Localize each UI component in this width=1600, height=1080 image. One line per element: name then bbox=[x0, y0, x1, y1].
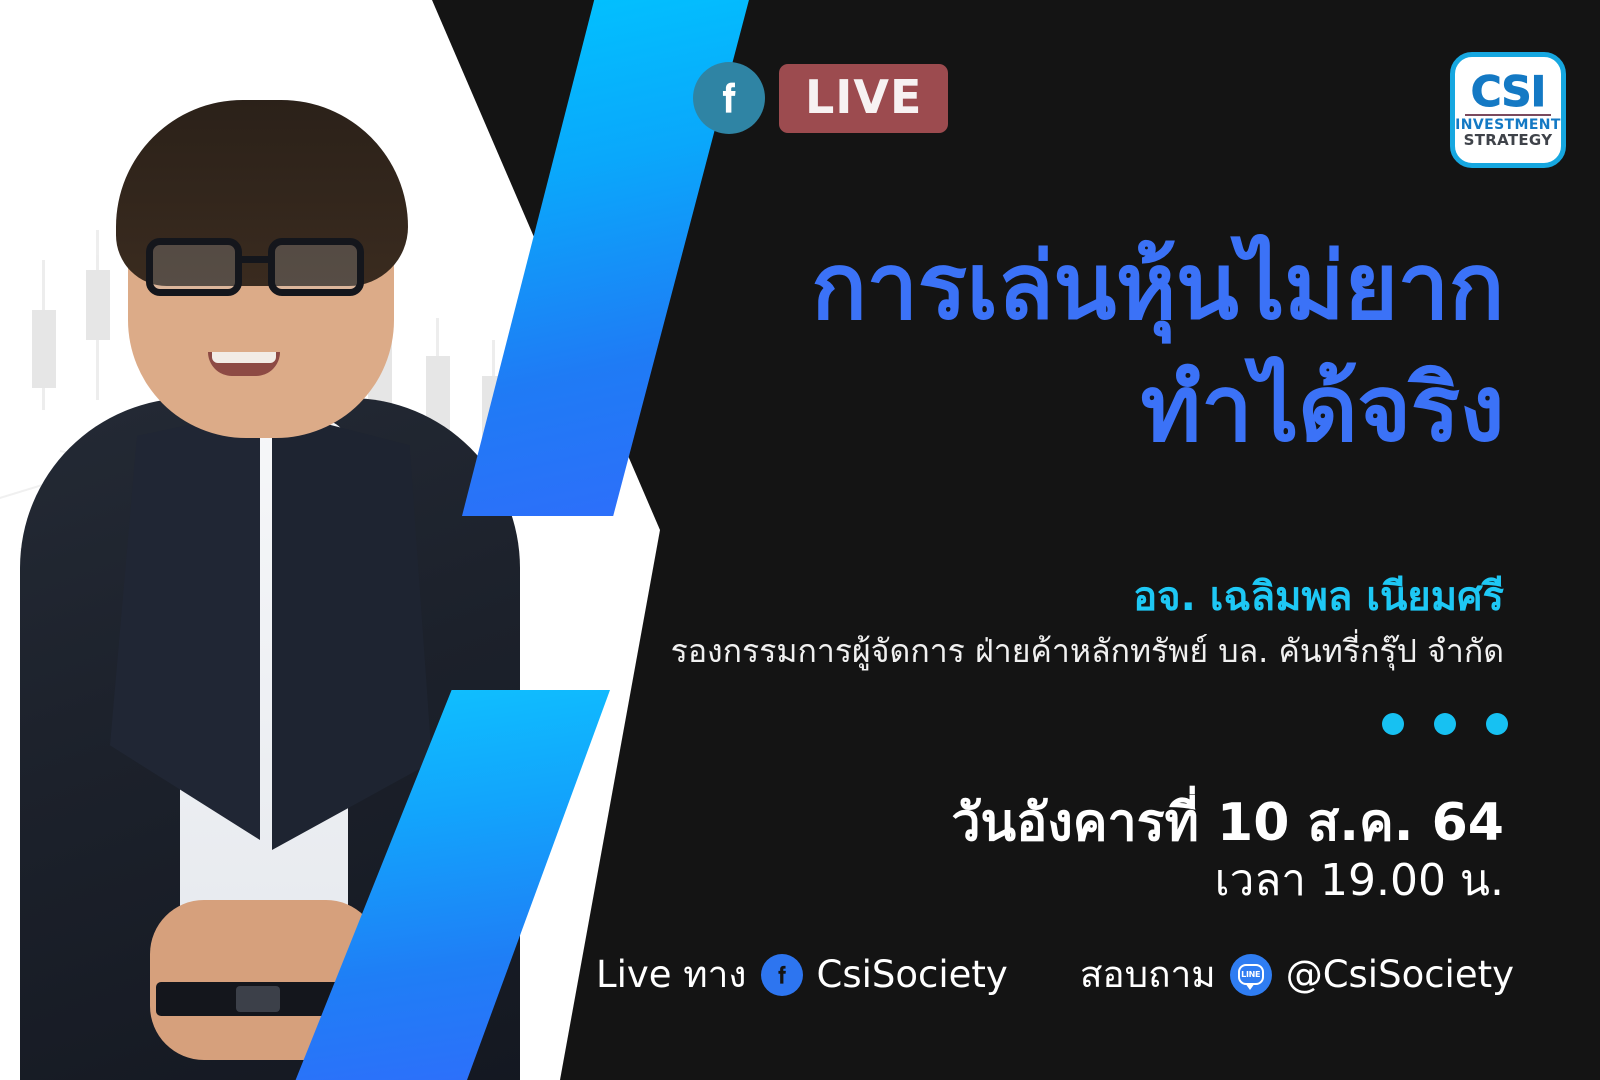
csi-logo-main: CSI bbox=[1471, 72, 1545, 111]
csi-logo: CSI INVESTMENT STRATEGY bbox=[1450, 52, 1566, 168]
csi-logo-divider bbox=[1465, 114, 1551, 116]
speaker-name: อจ. เฉลิมพล เนียมศรี bbox=[604, 573, 1504, 621]
facebook-contact[interactable]: Live ทาง CsiSociety bbox=[596, 945, 1008, 1004]
facebook-handle: CsiSociety bbox=[817, 953, 1008, 996]
facebook-live-badge[interactable]: LIVE bbox=[693, 62, 948, 134]
separator-dot bbox=[1382, 713, 1404, 735]
headline: การเล่นหุ้นไม่ยาก ทำได้จริง bbox=[604, 226, 1504, 471]
facebook-circle-icon bbox=[761, 954, 803, 996]
headline-line-1: การเล่นหุ้นไม่ยาก bbox=[604, 226, 1504, 348]
dot-separator bbox=[1382, 713, 1508, 735]
separator-dot bbox=[1434, 713, 1456, 735]
event-date: วันอังคารที่ 10 ส.ค. 64 bbox=[604, 792, 1504, 854]
eyeglasses-icon bbox=[146, 238, 378, 300]
speaker-role: รองกรรมการผู้จัดการ ฝ่ายค้าหลักทรัพย์ บล… bbox=[604, 632, 1504, 670]
headline-line-2: ทำได้จริง bbox=[604, 348, 1504, 470]
promo-poster: LIVE CSI INVESTMENT STRATEGY การเล่นหุ้น… bbox=[0, 0, 1600, 1080]
line-contact[interactable]: สอบถาม LINE @CsiSociety bbox=[1080, 945, 1514, 1004]
line-handle: @CsiSociety bbox=[1286, 953, 1514, 996]
live-label: LIVE bbox=[779, 64, 948, 133]
event-time: เวลา 19.00 น. bbox=[604, 855, 1504, 908]
line-glyph-text: LINE bbox=[1238, 964, 1264, 985]
footer-contact-label: สอบถาม bbox=[1080, 945, 1216, 1004]
footer-contacts: Live ทาง CsiSociety สอบถาม LINE @CsiSoci… bbox=[700, 945, 1514, 1004]
line-app-icon: LINE bbox=[1230, 954, 1272, 996]
csi-logo-strategy: STRATEGY bbox=[1464, 133, 1553, 149]
facebook-f-icon bbox=[693, 62, 765, 134]
footer-live-label: Live ทาง bbox=[596, 945, 747, 1004]
separator-dot bbox=[1486, 713, 1508, 735]
